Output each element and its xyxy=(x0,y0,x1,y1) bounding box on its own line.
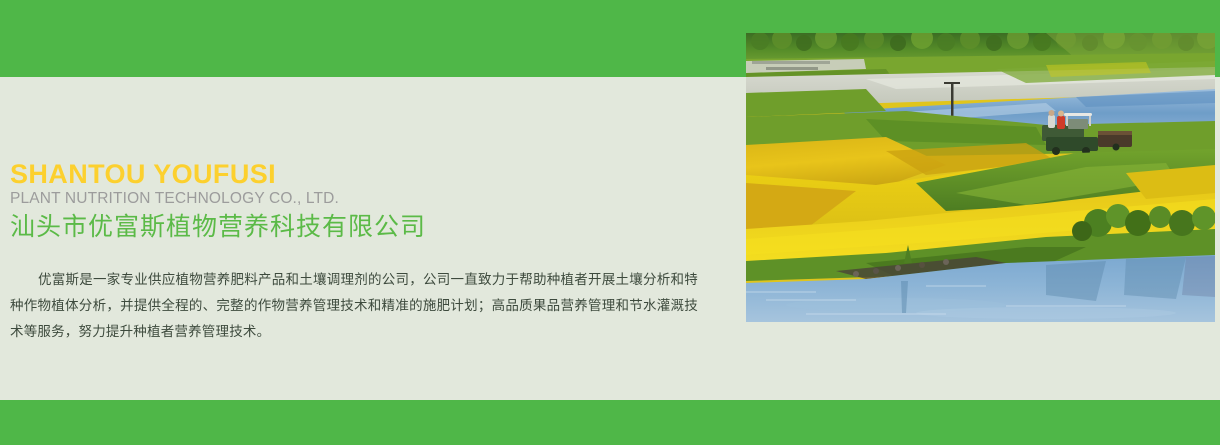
brand-name-chinese: 汕头市优富斯植物营养科技有限公司 xyxy=(10,212,715,243)
rice-paddy-harvest-photo xyxy=(746,33,1215,322)
bottom-green-band xyxy=(0,400,1220,445)
company-profile-banner: SHANTOU YOUFUSI PLANT NUTRITION TECHNOLO… xyxy=(0,0,1220,445)
brand-name-english: SHANTOU YOUFUSI xyxy=(10,160,715,188)
company-text-column: SHANTOU YOUFUSI PLANT NUTRITION TECHNOLO… xyxy=(0,160,715,345)
brand-subtitle-english: PLANT NUTRITION TECHNOLOGY CO., LTD. xyxy=(10,190,715,208)
company-description-paragraph: 优富斯是一家专业供应植物营养肥料产品和土壤调理剂的公司，公司一直致力于帮助种植者… xyxy=(10,267,698,345)
